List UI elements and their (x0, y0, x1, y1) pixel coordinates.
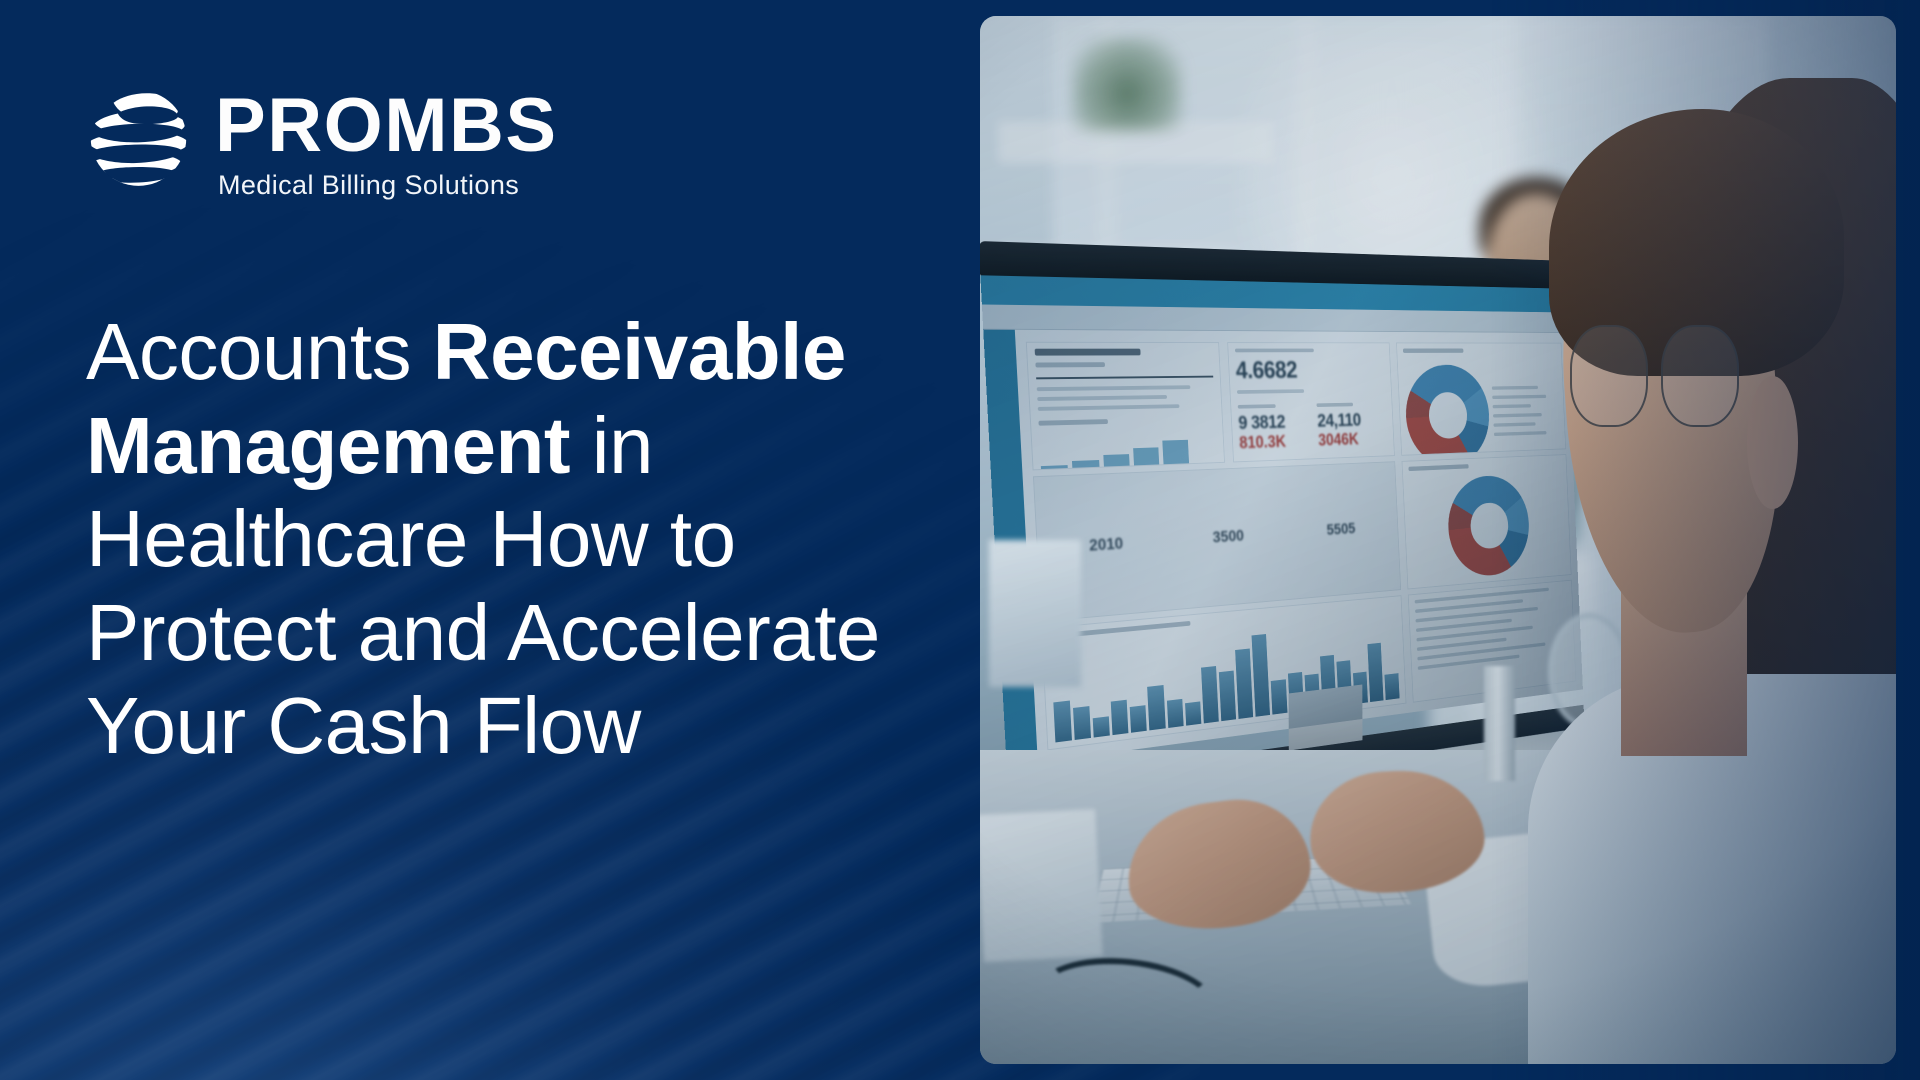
woman-ear (1747, 376, 1798, 510)
globe-swirl-icon (86, 82, 191, 190)
headline-word-accounts: Accounts (86, 307, 433, 396)
headline-line-4: Protect and Accelerate (86, 586, 956, 680)
headline-line-3: Healthcare How to (86, 492, 956, 586)
headline-line-2: Management in (86, 399, 956, 493)
plant (1072, 37, 1182, 131)
desk-bottle (1484, 666, 1515, 781)
headline-line-1: Accounts Receivable (86, 305, 956, 399)
headline-line-5: Your Cash Flow (86, 679, 956, 773)
paper-stack-front (980, 809, 1103, 962)
brand-logo[interactable]: PROMBS Medical Billing Solutions (86, 82, 558, 201)
headline-block: Accounts Receivable Management in Health… (86, 305, 956, 773)
logo-text-group: PROMBS Medical Billing Solutions (215, 82, 558, 201)
headline-word-receivable: Receivable (433, 307, 846, 396)
logo-wordmark: PROMBS (215, 90, 558, 162)
headline-word-management: Management (86, 401, 570, 490)
hero-photo: 4.6682 9 3812 810.3K 24,110 (980, 16, 1896, 1064)
promo-banner: PROMBS Medical Billing Solutions Account… (0, 0, 1920, 1080)
logo-tagline: Medical Billing Solutions (218, 170, 558, 201)
foreground-woman (1511, 37, 1896, 1064)
eyeglasses (1570, 325, 1739, 428)
paper-stack-left (989, 540, 1081, 687)
headline-word-in: in (570, 401, 653, 490)
